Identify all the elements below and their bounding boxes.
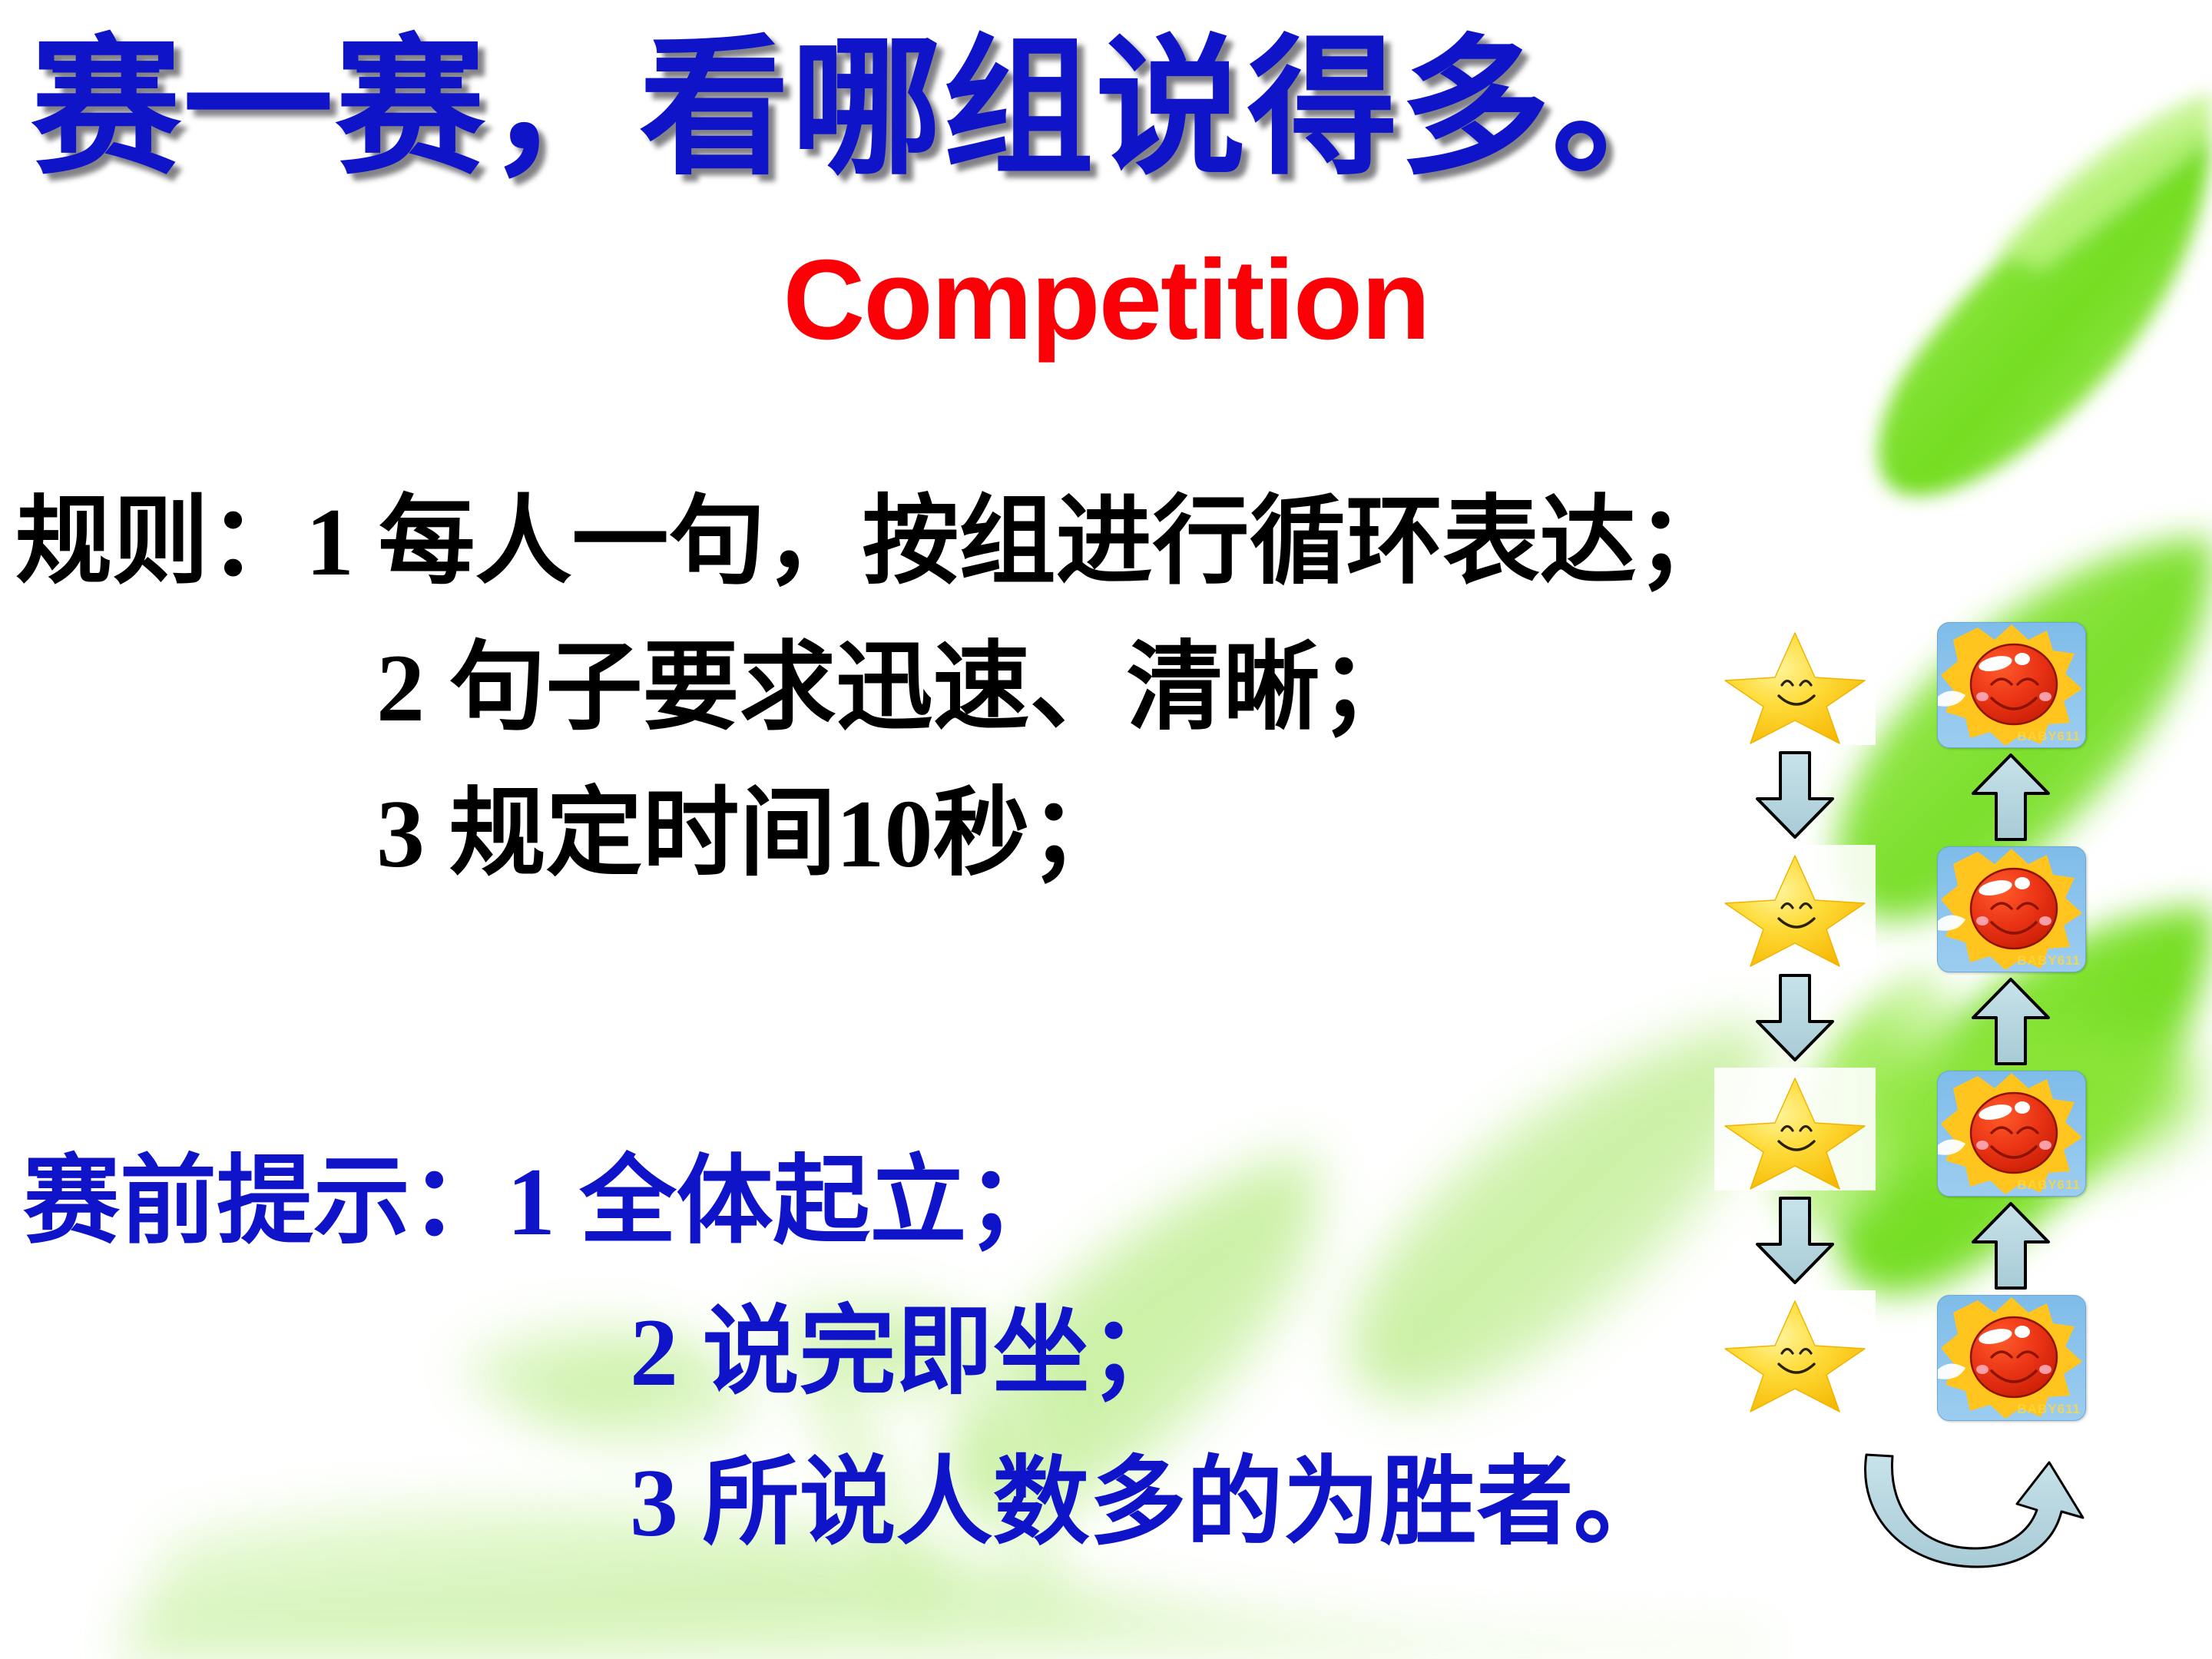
sun-card: BABY611 (1937, 846, 2086, 972)
sun-card: BABY611 (1937, 622, 2086, 748)
smiling-star-icon (1714, 1068, 1876, 1190)
star-column (1714, 622, 1876, 1413)
up-arrow-icon (1969, 1200, 2053, 1291)
up-arrow-1 (1937, 748, 2085, 846)
smiling-star-icon (1714, 1290, 1876, 1413)
up-arrow-icon (1969, 976, 2053, 1067)
card-badge: BABY611 (2017, 953, 2081, 969)
curved-loop-arrow-icon (1853, 1452, 2114, 1598)
card-badge: BABY611 (2017, 1402, 2081, 1417)
star-cell (1714, 1290, 1876, 1413)
star-cell (1714, 622, 1876, 745)
slide-title: 赛一赛，看哪组说得多。 (31, 0, 1704, 204)
star-cell (1714, 1068, 1876, 1190)
up-arrow-3 (1937, 1197, 2085, 1295)
sun-card: BABY611 (1937, 1295, 2086, 1421)
down-arrow-3 (1714, 1190, 1876, 1290)
slide-subtitle: Competition (0, 235, 2212, 366)
rules-item-2: 2 句子要求迅速、清晰； (15, 616, 1734, 762)
tips-heading-line: 赛前提示：1 全体起立； (23, 1128, 1671, 1278)
down-arrow-icon (1753, 750, 1837, 840)
up-arrow-2 (1937, 972, 2085, 1071)
smiling-star-icon (1714, 622, 1876, 745)
tips-block: 赛前提示：1 全体起立； 2 说完即坐； 3 所说人数多的为胜者。 (23, 1128, 1671, 1579)
up-arrow-icon (1969, 752, 2053, 843)
smiling-star-icon (1714, 845, 1876, 968)
sun-column: BABY611 (1937, 622, 2098, 1421)
down-arrow-icon (1753, 1195, 1837, 1286)
rules-heading-line: 规则：1 每人一句，按组进行循环表达； (15, 470, 1734, 616)
sun-card: BABY611 (1937, 1071, 2086, 1197)
slide-canvas: 赛一赛，看哪组说得多。 Competition 规则：1 每人一句，按组进行循环… (0, 0, 2212, 1659)
card-badge: BABY611 (2017, 1177, 2081, 1193)
tips-item-3: 3 所说人数多的为胜者。 (23, 1429, 1671, 1579)
tips-item-2: 2 说完即坐； (23, 1278, 1671, 1429)
rules-item-3: 3 规定时间10秒； (15, 762, 1734, 908)
rules-block: 规则：1 每人一句，按组进行循环表达； 2 句子要求迅速、清晰； 3 规定时间1… (15, 470, 1734, 908)
card-badge: BABY611 (2017, 729, 2081, 744)
down-arrow-2 (1714, 968, 1876, 1068)
rotation-flow-diagram: BABY611 (1714, 622, 2114, 1567)
down-arrow-1 (1714, 745, 1876, 845)
star-cell (1714, 845, 1876, 968)
down-arrow-icon (1753, 972, 1837, 1063)
